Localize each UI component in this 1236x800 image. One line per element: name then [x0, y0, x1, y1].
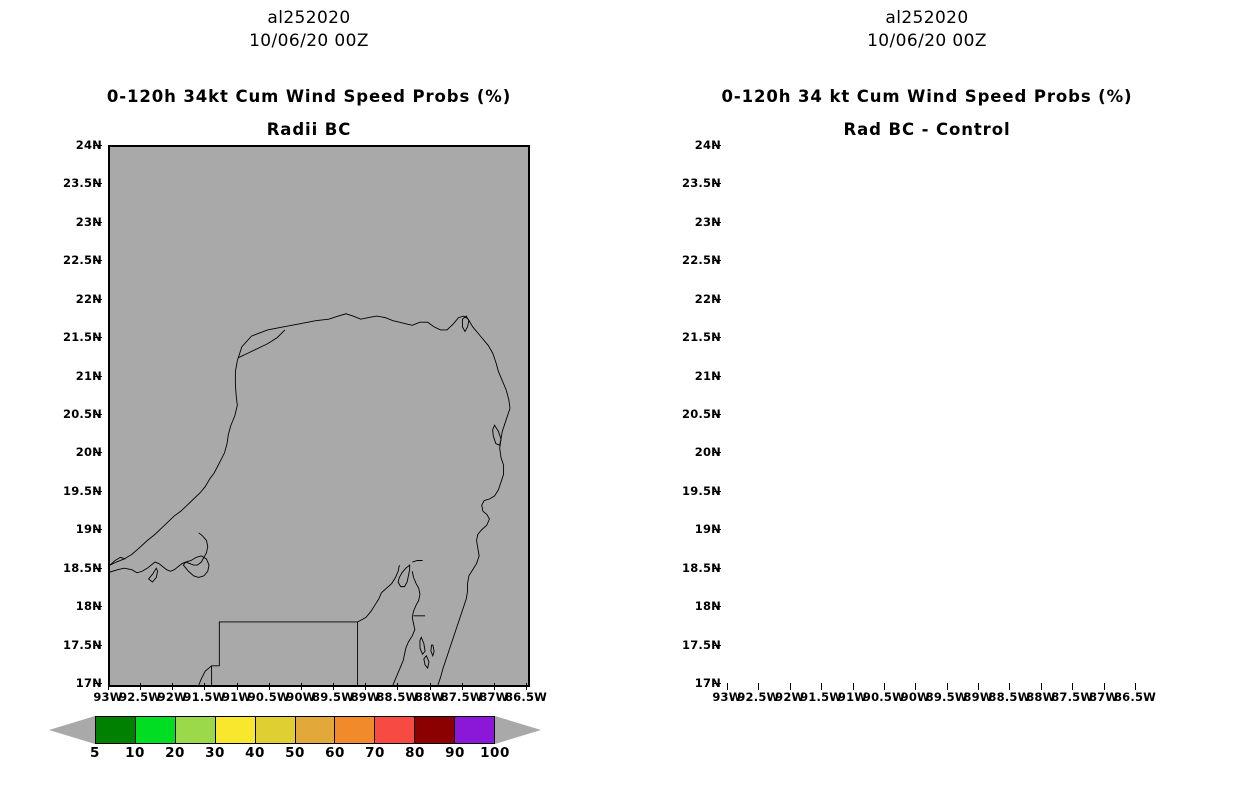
y-tick-mark [94, 645, 102, 646]
y-tick-mark [713, 683, 721, 684]
x-tick-label: 91.5W [800, 690, 842, 704]
probability-colorbar[interactable]: 5102030405060708090100 [95, 716, 495, 744]
x-tick-label: 86.5W [1114, 690, 1156, 704]
y-tick-mark [713, 529, 721, 530]
x-tick-label: 87.5W [1051, 690, 1093, 704]
belize-coast [393, 571, 420, 685]
datetime-left: 10/06/20 00Z [0, 31, 618, 51]
colorbar-swatch [96, 717, 136, 743]
x-tick-label: 89.5W [926, 690, 968, 704]
map-plot-area-left[interactable] [108, 145, 530, 687]
colorbar-under-arrow-left [49, 716, 95, 744]
y-tick-mark [713, 414, 721, 415]
yucatan-east-coast [438, 408, 510, 685]
colorbar-swatch [335, 717, 375, 743]
x-tick-mark [758, 683, 759, 690]
storm-id-left: al252020 [0, 8, 618, 28]
x-tick-mark [140, 683, 141, 690]
y-tick-mark [94, 491, 102, 492]
cay-3 [431, 645, 434, 656]
cay-2 [424, 656, 429, 668]
x-tick-label: 92.5W [737, 690, 779, 704]
colorbar-swatch [375, 717, 415, 743]
y-axis-labels-right: 24N23.5N23N22.5N22N21.5N21N20.5N20N19.5N… [661, 145, 721, 683]
colorbar-over-arrow-left [495, 716, 541, 744]
guatemala-north-line [381, 565, 399, 593]
y-tick-mark [94, 568, 102, 569]
x-tick-mark [333, 683, 334, 690]
y-tick-mark [94, 145, 102, 146]
terminos-lagoon [183, 556, 209, 578]
x-tick-mark [494, 683, 495, 690]
guatemala-border [212, 622, 358, 685]
x-tick-label: 88.5W [376, 690, 418, 704]
colorbar-cells-left [95, 716, 495, 744]
x-tick-mark [978, 683, 979, 690]
x-tick-label: 90.5W [248, 690, 290, 704]
colorbar-swatch [216, 717, 256, 743]
cay-1 [420, 637, 425, 654]
chart-subtitle-left: Radii BC [0, 120, 618, 139]
x-tick-mark [430, 683, 431, 690]
x-tick-label: 86.5W [505, 690, 547, 704]
x-tick-label: 89.5W [312, 690, 354, 704]
y-tick-mark [94, 606, 102, 607]
yucatan-north-coast [237, 314, 510, 409]
colorbar-swatch [176, 717, 216, 743]
x-tick-mark [365, 683, 366, 690]
y-tick-mark [94, 452, 102, 453]
panel-radii-bc: al252020 10/06/20 00Z 0-120h 34kt Cum Wi… [0, 0, 618, 800]
x-tick-mark [1072, 683, 1073, 690]
x-tick-mark [947, 683, 948, 690]
y-axis-labels-left: 24N23.5N23N22.5N22N21.5N21N20.5N20N19.5N… [42, 145, 102, 683]
y-tick-mark [94, 260, 102, 261]
panel-rad-bc-control: al252020 10/06/20 00Z 0-120h 34 kt Cum W… [618, 0, 1236, 800]
colorbar-tick-label: 100 [480, 745, 510, 761]
x-tick-mark [301, 683, 302, 690]
x-tick-mark [884, 683, 885, 690]
x-tick-mark [397, 683, 398, 690]
y-tick-mark [94, 183, 102, 184]
cozumel-island [493, 425, 501, 445]
x-axis-labels-left: 93W92.5W92W91.5W91W90.5W90W89.5W89W88.5W… [108, 690, 526, 712]
colorbar-tick-label: 90 [445, 745, 465, 761]
x-tick-mark [1135, 683, 1136, 690]
x-tick-mark [1009, 683, 1010, 690]
datetime-right: 10/06/20 00Z [618, 31, 1236, 51]
y-tick-mark [713, 299, 721, 300]
x-tick-mark [269, 683, 270, 690]
y-tick-mark [713, 337, 721, 338]
southern-border-spur [358, 593, 382, 622]
storm-id-right: al252020 [618, 8, 1236, 28]
x-tick-mark [790, 683, 791, 690]
campeche-south-coast [110, 533, 208, 573]
colorbar-tick-label: 70 [365, 745, 385, 761]
colorbar-tick-label: 80 [405, 745, 425, 761]
coastline-map-left [110, 147, 528, 685]
chart-subtitle-right: Rad BC - Control [618, 120, 1236, 139]
x-tick-mark [853, 683, 854, 690]
colorbar-tick-label: 30 [205, 745, 225, 761]
colorbar-tick-label: 10 [125, 745, 145, 761]
y-tick-mark [713, 645, 721, 646]
y-tick-mark [713, 606, 721, 607]
y-tick-mark [713, 183, 721, 184]
x-tick-mark [915, 683, 916, 690]
small-bay [149, 568, 158, 582]
y-tick-mark [713, 491, 721, 492]
colorbar-swatch [415, 717, 455, 743]
map-layer-left [110, 147, 528, 685]
colorbar-tick-label: 20 [165, 745, 185, 761]
y-tick-mark [713, 260, 721, 261]
y-tick-mark [94, 529, 102, 530]
y-tick-mark [713, 452, 721, 453]
colorbar-swatch [296, 717, 336, 743]
x-tick-label: 91.5W [183, 690, 225, 704]
y-tick-mark [94, 299, 102, 300]
x-tick-mark [1104, 683, 1105, 690]
x-tick-label: 92.5W [119, 690, 161, 704]
y-tick-mark [713, 145, 721, 146]
x-tick-label: 90.5W [863, 690, 905, 704]
y-tick-mark [94, 337, 102, 338]
colorbar-tick-label: 40 [245, 745, 265, 761]
x-tick-mark [108, 683, 109, 690]
x-tick-label: 88.5W [988, 690, 1030, 704]
colorbar-tick-label: 60 [325, 745, 345, 761]
y-tick-mark [94, 376, 102, 377]
x-axis-labels-right: 93W92.5W92W91.5W91W90.5W90W89.5W89W88.5W… [727, 690, 1135, 712]
x-tick-mark [526, 683, 527, 690]
colorbar-swatch [455, 717, 494, 743]
chart-title-left: 0-120h 34kt Cum Wind Speed Probs (%) [0, 87, 618, 106]
chetumal-bay [398, 565, 410, 587]
colorbar-tick-label: 50 [285, 745, 305, 761]
yucatan-west-coast [110, 361, 237, 565]
colorbar-tick-label: 5 [90, 745, 100, 761]
y-tick-mark [94, 683, 102, 684]
holbox-island [462, 316, 468, 331]
y-tick-mark [713, 376, 721, 377]
reef-line-1 [412, 560, 422, 562]
x-tick-mark [821, 683, 822, 690]
y-tick-mark [713, 222, 721, 223]
y-tick-mark [94, 222, 102, 223]
colorbar-swatch [136, 717, 176, 743]
colorbar-ticks-left: 5102030405060708090100 [95, 745, 495, 765]
x-tick-mark [237, 683, 238, 690]
inland-line [239, 330, 285, 358]
x-tick-mark [172, 683, 173, 690]
chart-title-right: 0-120h 34 kt Cum Wind Speed Probs (%) [618, 87, 1236, 106]
x-tick-mark [462, 683, 463, 690]
x-tick-mark [1041, 683, 1042, 690]
x-tick-mark [204, 683, 205, 690]
x-tick-mark [727, 683, 728, 690]
x-tick-label: 87.5W [441, 690, 483, 704]
colorbar-swatch [256, 717, 296, 743]
y-tick-mark [94, 414, 102, 415]
y-tick-mark [713, 568, 721, 569]
